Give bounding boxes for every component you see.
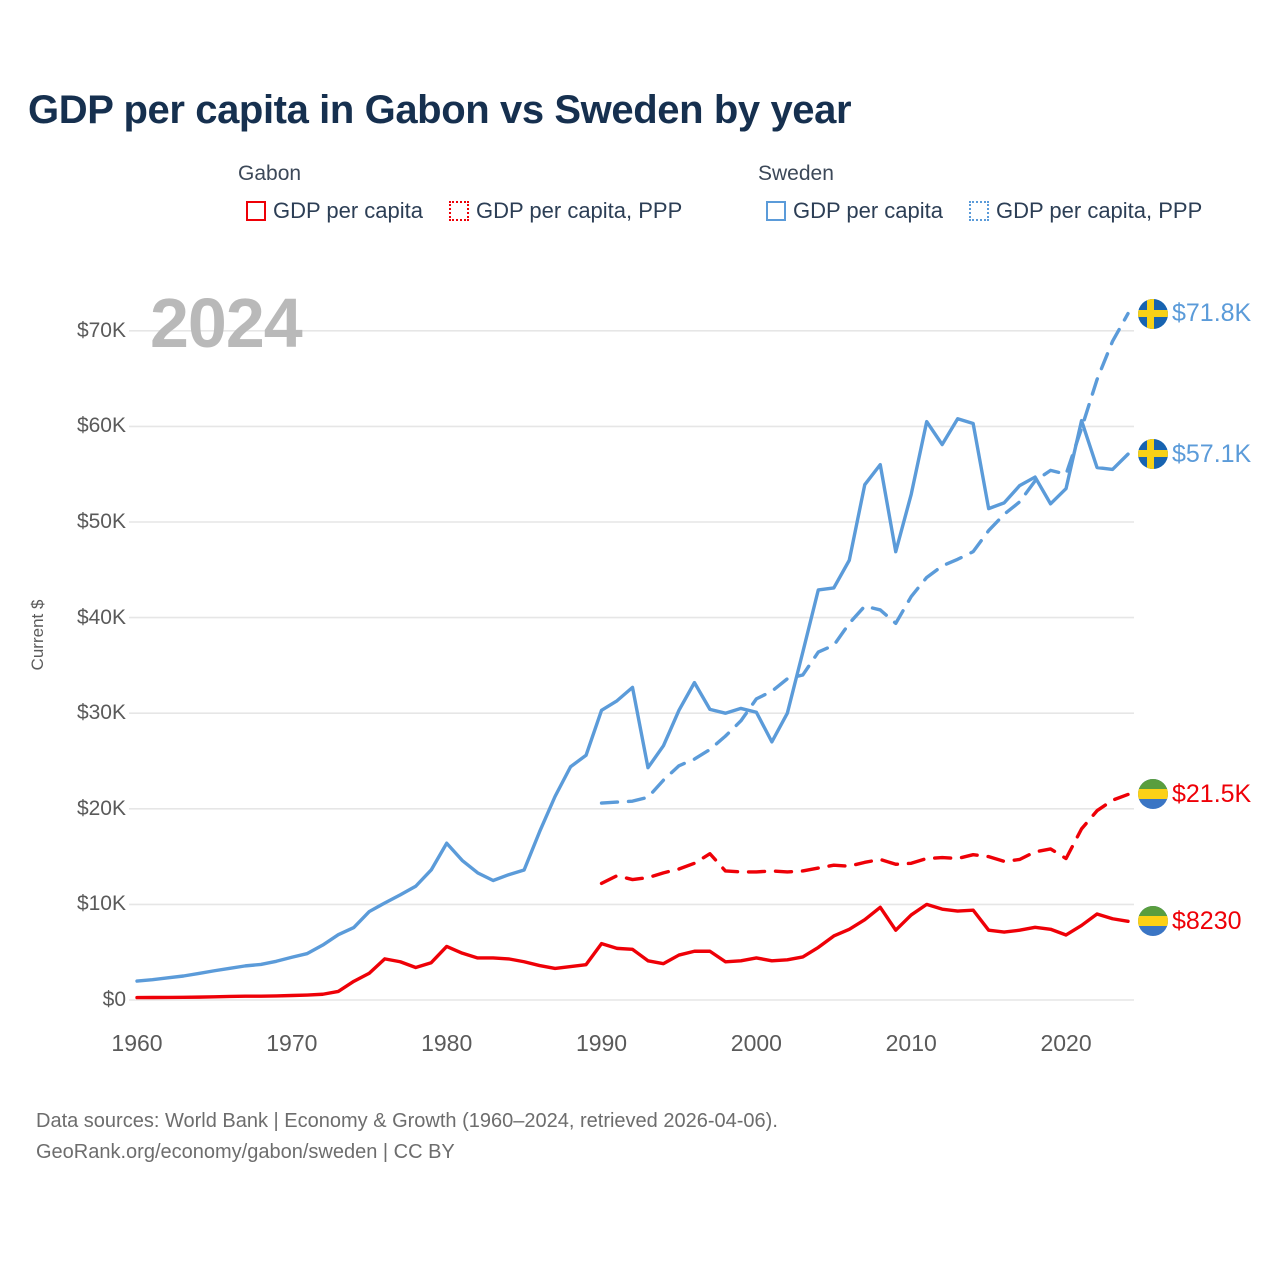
gabon-flag-icon: [1138, 906, 1168, 936]
legend-label: GDP per capita, PPP: [996, 198, 1202, 224]
legend-row-gabon: GDP per capita GDP per capita, PPP: [246, 198, 708, 224]
x-tick-label: 1980: [387, 1030, 507, 1057]
end-label-sweden-gdp: $57.1K: [1138, 439, 1251, 469]
footer-line-2: GeoRank.org/economy/gabon/sweden | CC BY: [36, 1137, 778, 1168]
legend-label: GDP per capita: [793, 198, 943, 224]
y-tick-label: $10K: [6, 892, 126, 916]
x-tick-label: 1960: [77, 1030, 197, 1057]
legend-group-gabon-title: Gabon: [238, 162, 301, 186]
end-label-value: $57.1K: [1172, 440, 1251, 469]
y-tick-label: $40K: [6, 606, 126, 630]
series-line: [602, 794, 1128, 883]
y-tick-label: $60K: [6, 414, 126, 438]
y-tick-label: $70K: [6, 319, 126, 343]
end-label-gabon-ppp: $21.5K: [1138, 779, 1251, 809]
legend-swatch-solid-blue: [766, 201, 786, 221]
sweden-flag-icon: [1138, 439, 1168, 469]
end-label-value: $8230: [1172, 907, 1242, 936]
end-label-value: $71.8K: [1172, 299, 1251, 328]
y-tick-label: $20K: [6, 797, 126, 821]
legend-swatch-solid-red: [246, 201, 266, 221]
y-tick-label: $0: [6, 988, 126, 1012]
x-tick-label: 2000: [696, 1030, 816, 1057]
legend-label: GDP per capita: [273, 198, 423, 224]
gabon-flag-icon: [1138, 779, 1168, 809]
legend-label: GDP per capita, PPP: [476, 198, 682, 224]
series-line: [137, 419, 1128, 981]
legend-item-sweden-ppp[interactable]: GDP per capita, PPP: [969, 198, 1202, 224]
legend-item-sweden-gdp[interactable]: GDP per capita: [766, 198, 943, 224]
legend-item-gabon-ppp[interactable]: GDP per capita, PPP: [449, 198, 682, 224]
legend-swatch-dotted-red: [449, 201, 469, 221]
end-label-value: $21.5K: [1172, 780, 1251, 809]
end-label-gabon-gdp: $8230: [1138, 906, 1242, 936]
x-tick-label: 2010: [851, 1030, 971, 1057]
legend-item-gabon-gdp[interactable]: GDP per capita: [246, 198, 423, 224]
year-watermark: 2024: [150, 288, 302, 358]
end-label-sweden-ppp: $71.8K: [1138, 299, 1251, 329]
chart-legend: Gabon Sweden GDP per capita GDP per capi…: [238, 162, 1268, 242]
page-title: GDP per capita in Gabon vs Sweden by yea…: [28, 88, 851, 133]
chart-page: GDP per capita in Gabon vs Sweden by yea…: [0, 0, 1280, 1280]
series-line: [602, 314, 1128, 803]
footer-line-1: Data sources: World Bank | Economy & Gro…: [36, 1106, 778, 1137]
x-tick-label: 1970: [232, 1030, 352, 1057]
y-tick-label: $50K: [6, 510, 126, 534]
y-tick-label: $30K: [6, 701, 126, 725]
legend-row-sweden: GDP per capita GDP per capita, PPP: [766, 198, 1228, 224]
x-tick-label: 2020: [1006, 1030, 1126, 1057]
legend-group-sweden-title: Sweden: [758, 162, 834, 186]
legend-swatch-dotted-blue: [969, 201, 989, 221]
x-tick-label: 1990: [542, 1030, 662, 1057]
series-line: [137, 904, 1128, 997]
sweden-flag-icon: [1138, 299, 1168, 329]
y-axis-label: Current $: [28, 575, 48, 695]
footer-credits: Data sources: World Bank | Economy & Gro…: [36, 1106, 778, 1168]
